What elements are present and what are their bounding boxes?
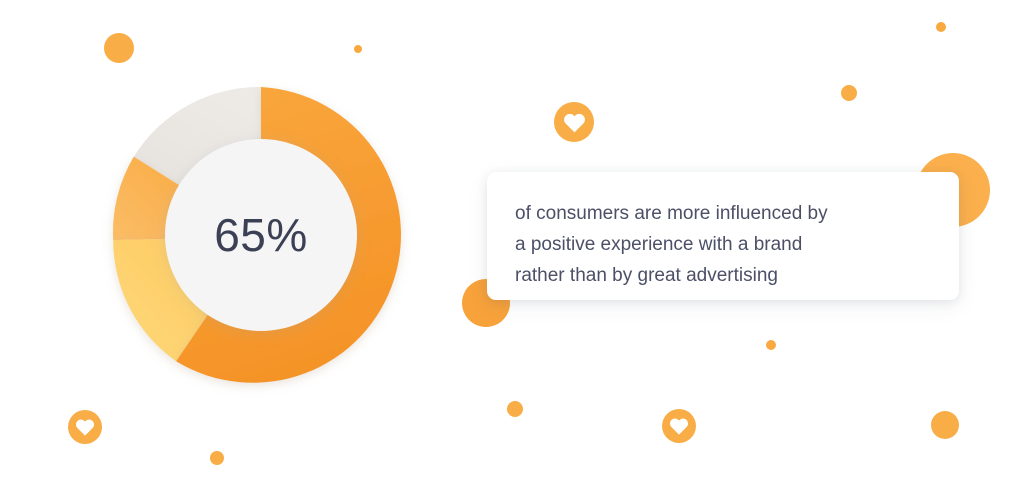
deco-dot-mid-right <box>766 340 776 350</box>
deco-dot-top-right <box>936 22 946 32</box>
consumer-influence-donut-chart: 65% <box>94 68 428 402</box>
donut-center-percentage: 65% <box>94 68 428 402</box>
heart-icon <box>75 417 95 437</box>
deco-dot-bottom-center <box>507 401 523 417</box>
heart-icon <box>669 416 689 436</box>
deco-heart-top <box>554 102 594 142</box>
deco-heart-bottom <box>662 409 696 443</box>
quote-card: of consumers are more influenced by a po… <box>487 172 959 300</box>
heart-icon <box>563 111 586 134</box>
quote-text: of consumers are more influenced by a po… <box>515 198 931 291</box>
deco-dot-upper-right <box>841 85 857 101</box>
infographic-canvas: 65% of consumers are more influenced by … <box>0 0 1018 493</box>
deco-dot-top-center <box>354 45 362 53</box>
deco-dot-bottom-left <box>210 451 224 465</box>
deco-circle-bottom-right <box>931 411 959 439</box>
deco-circle-top-left <box>104 33 134 63</box>
deco-heart-left <box>68 410 102 444</box>
